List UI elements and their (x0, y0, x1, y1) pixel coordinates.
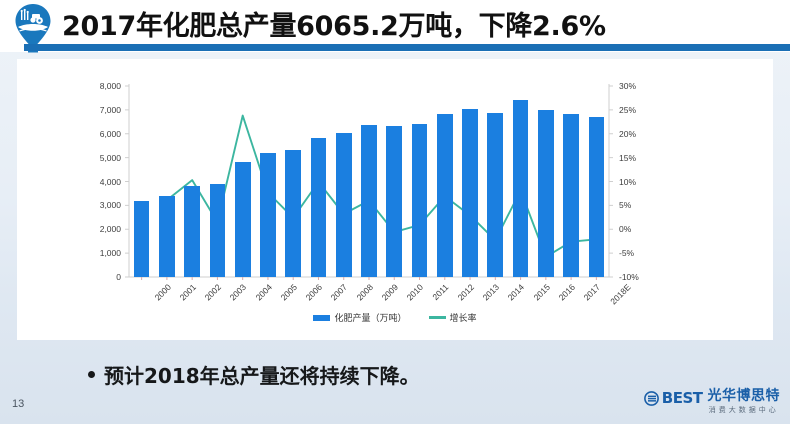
y-axis-right-tick: 20% (619, 129, 636, 139)
legend-item-bars: 化肥产量（万吨） (313, 311, 406, 324)
y-axis-left-tick: 3,000 (17, 200, 121, 210)
production-growth-chart: 01,0002,0003,0004,0005,0006,0007,0008,00… (17, 59, 773, 340)
brand-subtitle: 消费大数据中心 (709, 405, 779, 415)
legend-swatch-bar-icon (313, 315, 330, 321)
bar-2010 (386, 126, 402, 277)
bar-2002 (184, 186, 200, 277)
brand-mark-text: BEST (662, 389, 703, 407)
y-axis-left-tick: 7,000 (17, 105, 121, 115)
y-axis-right-tick: 5% (619, 200, 631, 210)
brand-mark-icon: BEST (644, 389, 703, 407)
y-axis-right-tick: -5% (619, 248, 634, 258)
page-title: 2017年化肥总产量6065.2万吨，下降2.6% (62, 4, 606, 43)
bar-2009 (361, 125, 377, 277)
y-axis-left-tick: 0 (17, 272, 121, 282)
bar-2004 (235, 162, 251, 277)
bar-2017 (563, 114, 579, 277)
chart-legend: 化肥产量（万吨） 增长率 (17, 311, 773, 324)
y-axis-right-tick: 10% (619, 177, 636, 187)
bar-2013 (462, 109, 478, 277)
y-axis-left-tick: 6,000 (17, 129, 121, 139)
brand-logo: BEST 光华博思特 消费大数据中心 (644, 389, 780, 415)
brand-circle-icon (644, 391, 660, 406)
slide-root: 2017年化肥总产量6065.2万吨，下降2.6% 01,0002,0003,0… (0, 0, 790, 424)
y-axis-right-tick: 0% (619, 224, 631, 234)
summary-bullet-text: 预计2018年总产量还将持续下降。 (104, 360, 420, 389)
bullet-dot-icon (88, 371, 95, 378)
y-axis-right-tick: 25% (619, 105, 636, 115)
bar-2000 (134, 201, 150, 277)
bar-2003 (210, 184, 226, 277)
y-axis-left-tick: 8,000 (17, 81, 121, 91)
growth-rate-line (167, 116, 597, 257)
slide-header: 2017年化肥总产量6065.2万吨，下降2.6% (0, 0, 790, 52)
brand-name: 光华博思特 (708, 389, 781, 404)
bar-2016 (538, 110, 554, 277)
y-axis-right-tick: -10% (619, 272, 639, 282)
y-axis-left-tick: 2,000 (17, 224, 121, 234)
bar-2005 (260, 153, 276, 277)
bar-2011 (412, 124, 428, 277)
y-axis-right-tick: 30% (619, 81, 636, 91)
legend-swatch-line-icon (429, 316, 446, 319)
legend-item-line: 增长率 (429, 311, 477, 324)
bar-2006 (285, 150, 301, 277)
chart-card: 01,0002,0003,0004,0005,0006,0007,0008,00… (17, 59, 773, 340)
bar-2007 (311, 138, 327, 277)
y-axis-right-tick: 15% (619, 153, 636, 163)
legend-label-line: 增长率 (450, 311, 477, 324)
legend-label-bars: 化肥产量（万吨） (334, 311, 406, 324)
bar-2018E (589, 117, 605, 277)
bar-2015 (513, 100, 529, 277)
brand-name-block: 光华博思特 消费大数据中心 (708, 389, 781, 415)
bar-2008 (336, 133, 352, 277)
bar-2014 (487, 113, 503, 277)
bar-2001 (159, 196, 175, 277)
bar-2012 (437, 114, 453, 277)
header-divider (24, 44, 790, 51)
y-axis-left-tick: 5,000 (17, 153, 121, 163)
y-axis-left-tick: 4,000 (17, 177, 121, 187)
y-axis-left-tick: 1,000 (17, 248, 121, 258)
page-number: 13 (12, 398, 24, 410)
